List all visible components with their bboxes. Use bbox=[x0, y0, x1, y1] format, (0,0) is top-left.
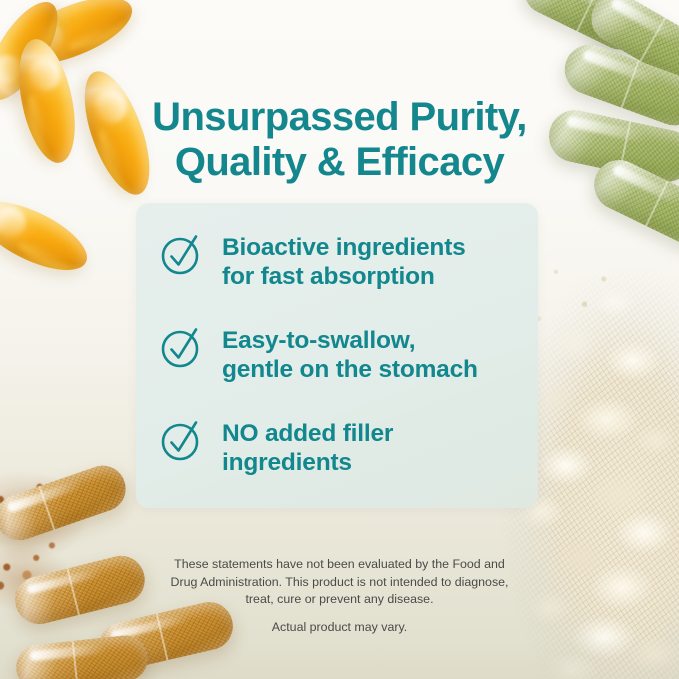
benefit-line-2: ingredients bbox=[222, 448, 393, 477]
benefit-line-2: gentle on the stomach bbox=[222, 355, 478, 384]
disclaimer-line-2: Drug Administration. This product is not… bbox=[120, 574, 559, 592]
benefit-line-2: for fast absorption bbox=[222, 262, 466, 291]
check-circle-icon bbox=[160, 233, 204, 277]
page-title: Unsurpassed Purity, Quality & Efficacy bbox=[0, 95, 679, 186]
disclaimer-line-1: These statements have not been evaluated… bbox=[120, 556, 559, 574]
benefit-item: Easy-to-swallow, gentle on the stomach bbox=[160, 324, 522, 385]
benefits-list: Bioactive ingredients for fast absorptio… bbox=[160, 231, 522, 477]
benefit-line-1: Bioactive ingredients bbox=[222, 233, 466, 262]
benefit-text: Bioactive ingredients for fast absorptio… bbox=[222, 231, 466, 292]
check-circle-icon bbox=[160, 326, 204, 370]
benefit-line-1: Easy-to-swallow, bbox=[222, 326, 478, 355]
product-variation-note: Actual product may vary. bbox=[0, 620, 679, 634]
benefit-item: Bioactive ingredients for fast absorptio… bbox=[160, 231, 522, 292]
benefit-text: NO added filler ingredients bbox=[222, 417, 393, 478]
disclaimer-line-3: treat, cure or prevent any disease. bbox=[120, 591, 559, 609]
benefit-item: NO added filler ingredients bbox=[160, 417, 522, 478]
page-title-line-1: Unsurpassed Purity, bbox=[152, 95, 527, 139]
product-benefits-poster: Unsurpassed Purity, Quality & Efficacy B… bbox=[0, 0, 679, 679]
benefit-text: Easy-to-swallow, gentle on the stomach bbox=[222, 324, 478, 385]
page-title-line-2: Quality & Efficacy bbox=[120, 140, 559, 186]
benefits-card: Bioactive ingredients for fast absorptio… bbox=[136, 203, 538, 508]
fda-disclaimer: These statements have not been evaluated… bbox=[120, 556, 559, 609]
check-circle-icon bbox=[160, 419, 204, 463]
benefit-line-1: NO added filler bbox=[222, 419, 393, 448]
